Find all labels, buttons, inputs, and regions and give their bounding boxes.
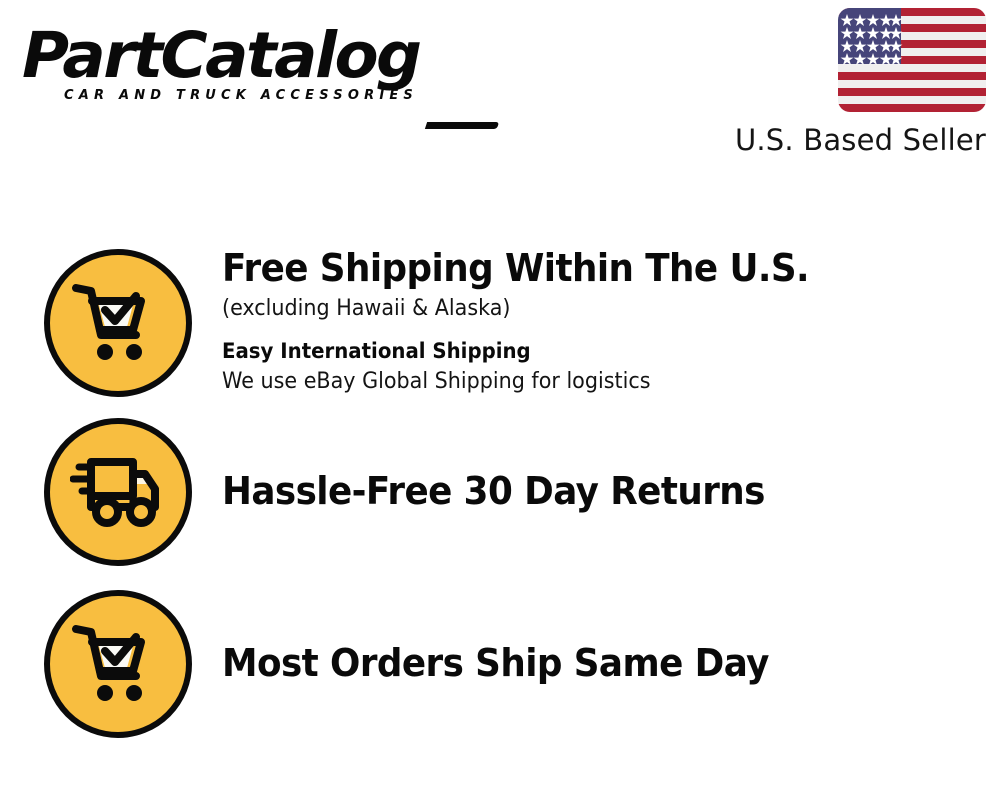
feature-text-block: Most Orders Ship Same Day xyxy=(222,643,1000,685)
brand-logo-wordmark: PartCatalog xyxy=(22,26,512,86)
feature-title: Free Shipping Within The U.S. xyxy=(222,248,953,288)
feature-title: Hassle-Free 30 Day Returns xyxy=(222,471,953,511)
feature-subtext: We use eBay Global Shipping for logistic… xyxy=(222,367,953,397)
feature-title: Most Orders Ship Same Day xyxy=(222,643,953,683)
feature-row: Free Shipping Within The U.S. (excluding… xyxy=(0,248,1000,399)
feature-row: Most Orders Ship Same Day xyxy=(0,590,1000,738)
feature-row: Hassle-Free 30 Day Returns xyxy=(0,418,1000,566)
brand-logo-tagline: CAR AND TRUCK ACCESSORIES xyxy=(64,88,502,103)
us-based-seller-label: U.S. Based Seller xyxy=(716,123,986,157)
brand-logo[interactable]: PartCatalog CAR AND TRUCK ACCESSORIES xyxy=(22,26,502,103)
page-header: PartCatalog CAR AND TRUCK ACCESSORIES xyxy=(0,0,1000,175)
feature-text-block: Free Shipping Within The U.S. (excluding… xyxy=(222,248,1000,399)
us-based-seller-badge: U.S. Based Seller xyxy=(716,8,986,157)
delivery-truck-icon xyxy=(44,418,192,566)
us-flag-icon xyxy=(838,8,986,112)
brand-logo-swoosh xyxy=(425,122,499,129)
shopping-cart-check-icon xyxy=(44,590,192,738)
feature-text-block: Hassle-Free 30 Day Returns xyxy=(222,471,1000,513)
feature-note: (excluding Hawaii & Alaska) xyxy=(222,294,953,324)
feature-subheading: Easy International Shipping xyxy=(222,338,953,365)
shopping-cart-check-icon xyxy=(44,249,192,397)
